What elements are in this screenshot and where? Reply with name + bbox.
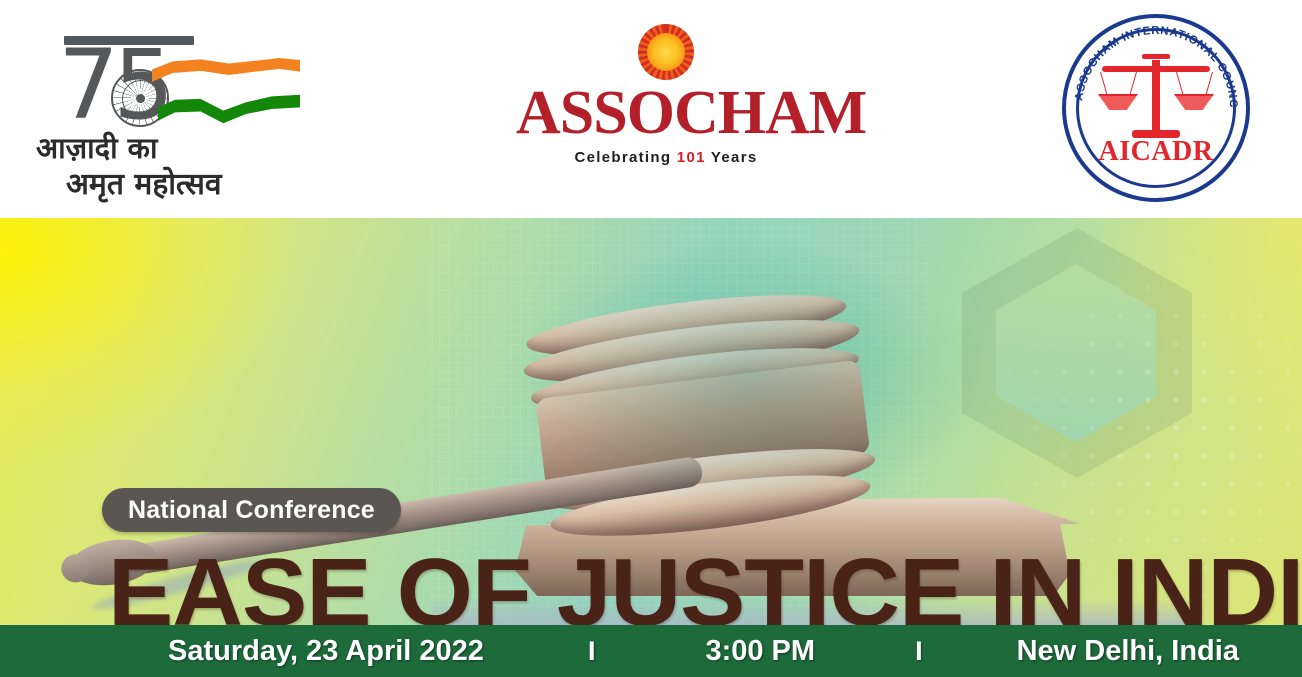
tagline-suffix: Years [706,149,758,166]
flag-saffron-band [152,58,300,92]
national-conference-badge: National Conference [102,488,401,532]
sun-disc-shape [647,33,685,71]
scale-top-cap [1142,54,1170,59]
scale-pan-left [1098,72,1138,102]
event-details-bar: Saturday, 23 April 2022 I 3:00 PM I New … [0,625,1302,677]
separator-2: I [915,636,923,667]
scale-post [1152,60,1160,134]
page-title: EASE OF JUSTICE IN INDIA [108,541,1281,625]
assocham-logo: ASSOCHAM Celebrating 101 Years [516,24,816,164]
event-poster: 75 आज़ादी का अमृत महोत्सव ASSOCHAM Celeb… [0,0,1302,677]
flag-green-band [158,88,300,130]
scale-pan-right-bowl [1174,94,1214,110]
national-conference-badge-label: National Conference [128,496,375,525]
sun-burst-icon [638,24,694,80]
assocham-tagline: Celebrating 101 Years [516,149,816,166]
azadi-ka-amrit-mahotsav-logo: 75 आज़ादी का अमृत महोत्सव [34,24,296,194]
azadi-hindi-line-2: अमृत महोत्सव [66,162,296,203]
conference-banner: National Conference EASE OF JUSTICE IN I… [0,218,1302,625]
event-location: New Delhi, India [1017,635,1239,668]
assocham-wordmark-text: ASSOCHAM [516,79,866,147]
separator-1: I [588,636,596,667]
assocham-wordmark: ASSOCHAM [516,82,816,144]
event-date: Saturday, 23 April 2022 [168,635,484,668]
event-time: 3:00 PM [705,635,815,668]
scales-of-justice-icon [1102,50,1210,130]
indian-flag-icon [152,58,300,130]
scale-pan-left-bowl [1098,94,1138,110]
tagline-prefix: Celebrating [575,149,677,166]
tagline-years-number: 101 [677,149,706,166]
scale-pan-right [1174,72,1214,102]
aicadr-logo: ASSOCHAM INTERNATIONAL COUNCIL OF ALTERN… [1062,14,1250,202]
aicadr-acronym-text: AICADR [1062,136,1250,168]
logo-header-strip: 75 आज़ादी का अमृत महोत्सव ASSOCHAM Celeb… [0,0,1302,218]
